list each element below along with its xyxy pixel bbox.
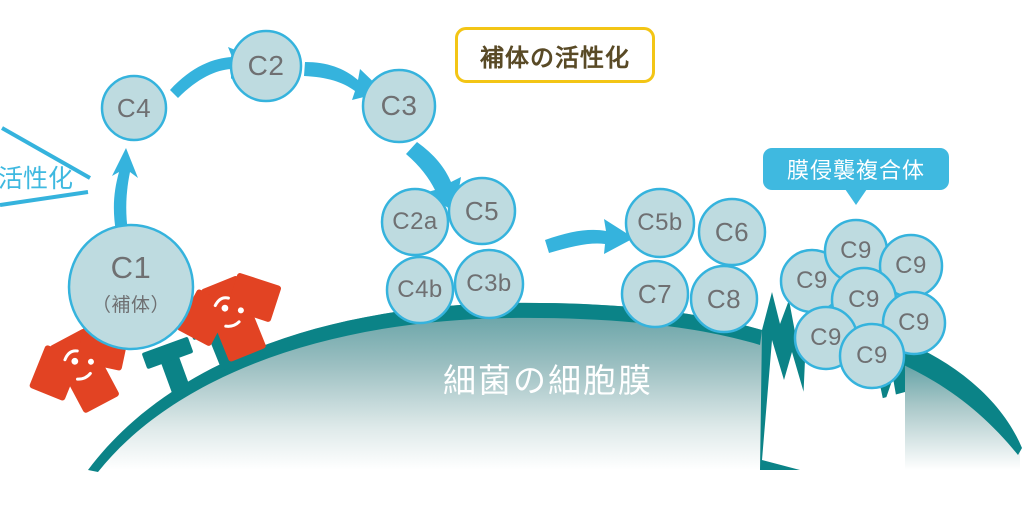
node-c6-label: C6: [699, 199, 765, 265]
activation-label: 活性化: [0, 159, 73, 195]
mac-label-bubble: 膜侵襲複合体: [763, 148, 949, 190]
node-c7-label: C7: [622, 261, 688, 327]
node-c2-label: C2: [231, 31, 301, 101]
arrow-cluster-to-mac-shape: [545, 219, 634, 254]
node-c9-7-label: C9: [840, 324, 904, 388]
node-c3b-label: C3b: [455, 250, 523, 318]
node-c2a-label: C2a: [382, 189, 448, 255]
node-c1-sublabel: （補体）: [71, 288, 191, 318]
node-c4b-label: C4b: [387, 257, 453, 323]
membrane-label: 細菌の細胞膜: [443, 354, 653, 402]
arrow-c1-to-c4-shape: [112, 148, 138, 232]
node-c4-label: C4: [102, 76, 166, 140]
arrow-c1-to-c4: [112, 148, 138, 232]
node-c8-label: C8: [691, 266, 757, 332]
node-c3-label: C3: [363, 70, 435, 142]
node-c5-label: C5: [449, 178, 515, 244]
node-c1-label: C1: [71, 248, 191, 288]
arrow-cluster-to-mac: [545, 219, 634, 254]
node-c5b-label: C5b: [626, 189, 694, 257]
mac-label-bubble-tail: [845, 189, 867, 205]
complement-activation-diagram: C4C2C3C2aC5C4bC3bC5bC6C7C8C9C9C9C9C9C9C9…: [0, 0, 1024, 507]
diagram-title: 補体の活性化: [455, 27, 655, 83]
